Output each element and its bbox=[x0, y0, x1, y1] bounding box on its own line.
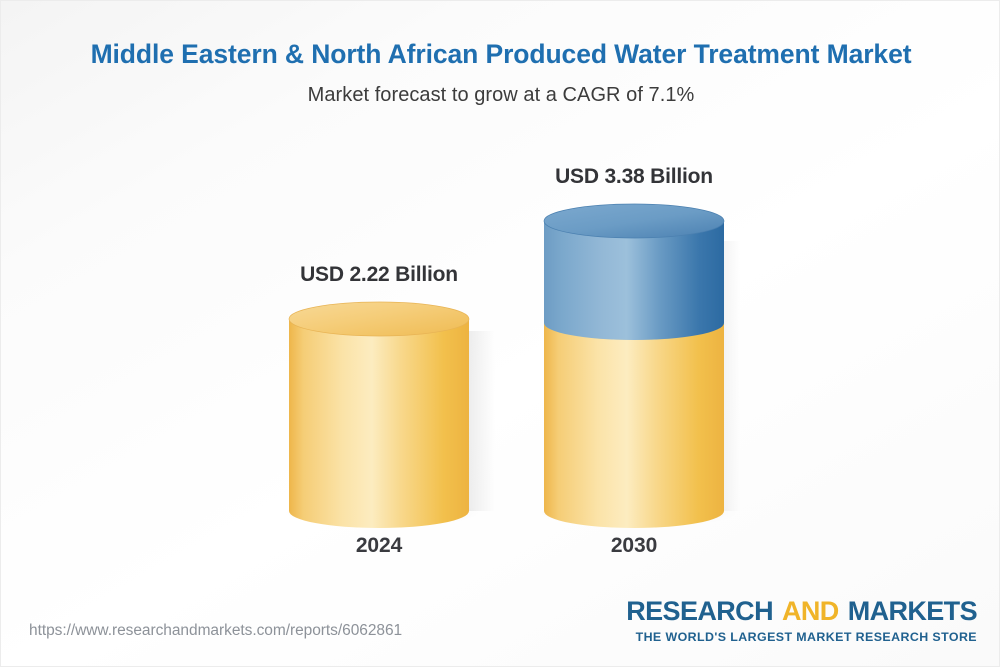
logo-tagline: THE WORLD'S LARGEST MARKET RESEARCH STOR… bbox=[626, 625, 977, 643]
research-and-markets-logo[interactable]: RESEARCHANDMARKETS THE WORLD'S LARGEST M… bbox=[626, 598, 977, 643]
logo-word-research: RESEARCH bbox=[626, 596, 773, 626]
bar-value-label-2024: USD 2.22 Billion bbox=[229, 263, 529, 287]
bar-2024-body bbox=[289, 319, 469, 528]
plot-area: USD 2.22 Billion USD 3.38 Billion 2024 2… bbox=[1, 1, 1000, 667]
logo-word-markets: MARKETS bbox=[848, 596, 977, 626]
bar-cylinder-2030 bbox=[544, 204, 724, 528]
bar-2024-top-cap bbox=[289, 302, 469, 336]
bar-value-label-2030: USD 3.38 Billion bbox=[484, 165, 784, 189]
bar-2030-top-cap bbox=[544, 204, 724, 238]
report-url-link[interactable]: https://www.researchandmarkets.com/repor… bbox=[29, 622, 402, 640]
logo-wordmark: RESEARCHANDMARKETS bbox=[626, 598, 977, 625]
bar-side-shadow-2024 bbox=[469, 331, 495, 511]
bar-cylinder-2024 bbox=[289, 302, 469, 528]
x-axis-tick-2030: 2030 bbox=[484, 534, 784, 558]
bar-2030-body-growth bbox=[544, 221, 724, 340]
bar-2030-body-base bbox=[544, 323, 724, 528]
logo-word-and: AND bbox=[782, 596, 839, 626]
cylinder-bars-svg bbox=[1, 1, 1000, 667]
chart-canvas: Middle Eastern & North African Produced … bbox=[0, 0, 1000, 667]
